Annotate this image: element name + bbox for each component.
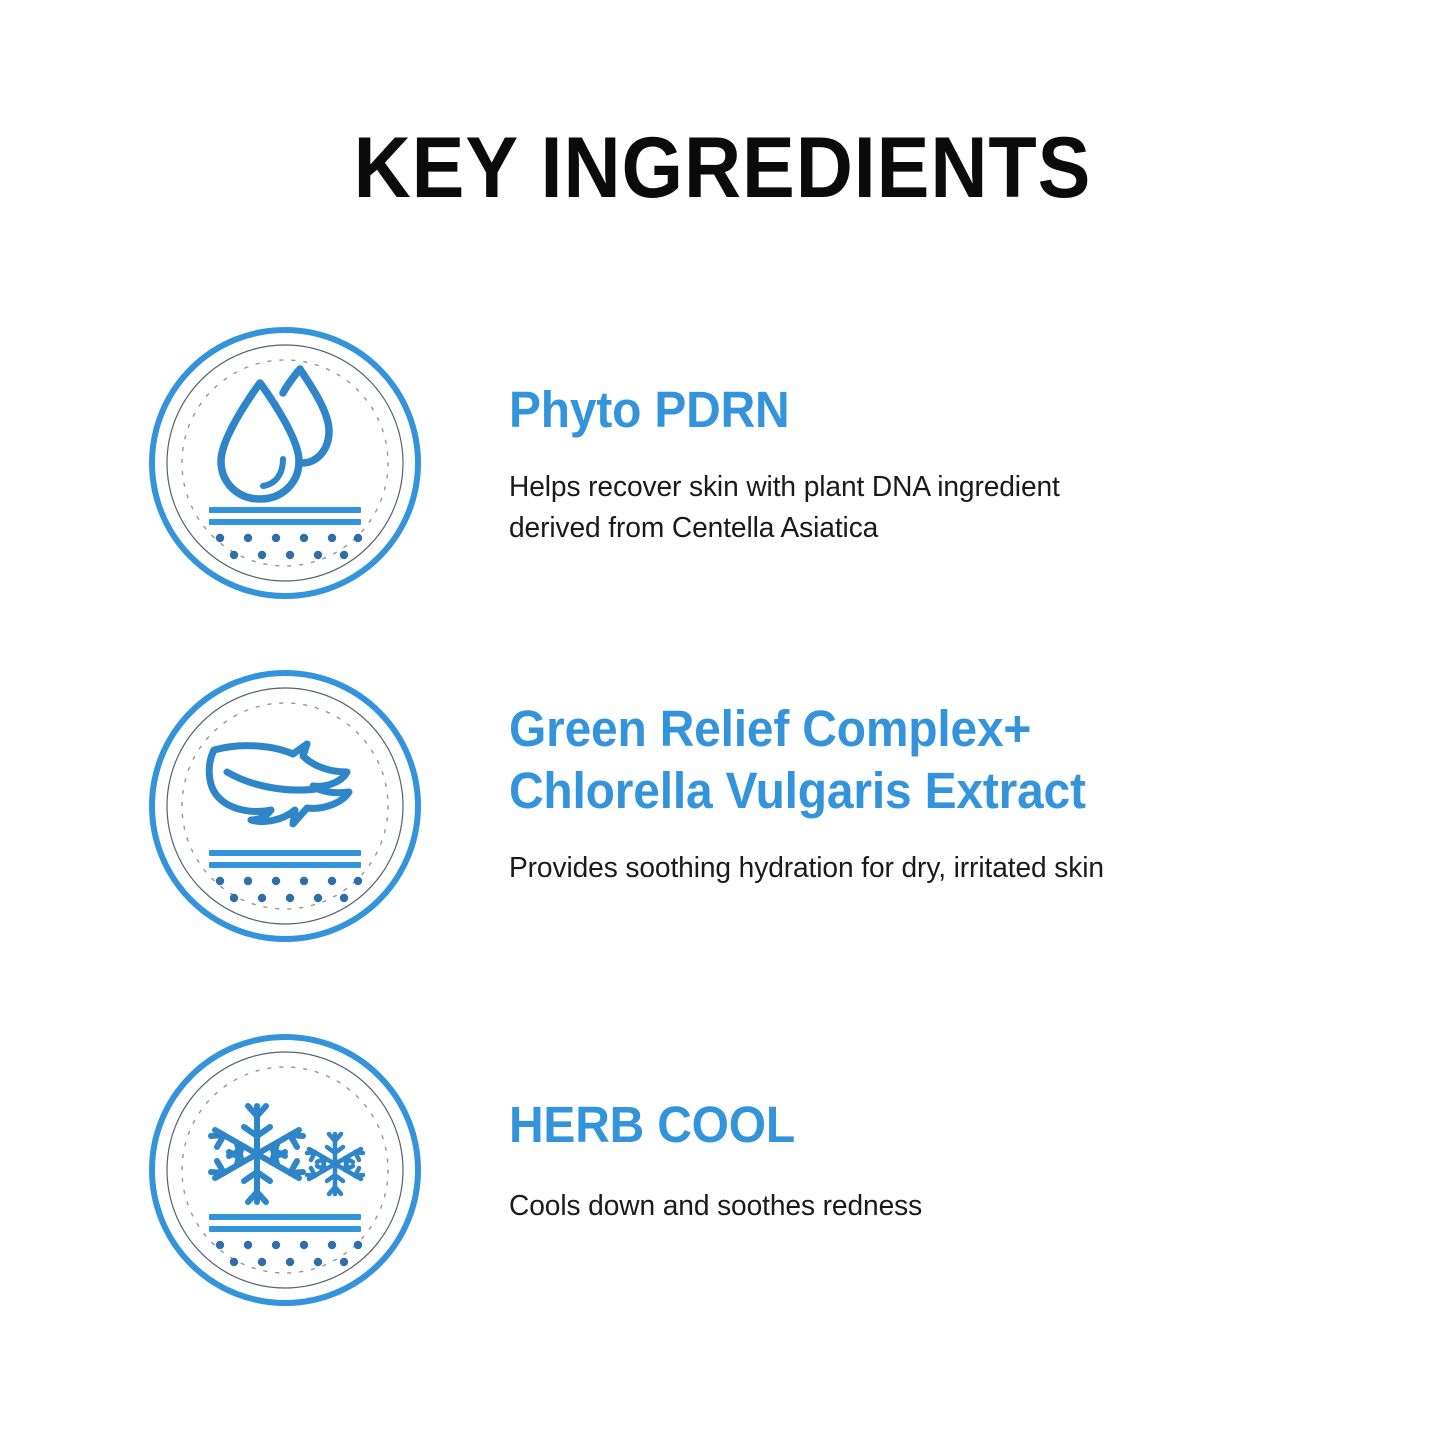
ingredient-title: Phyto PDRN <box>509 379 1261 441</box>
ingredient-title-line: Green Relief Complex+ <box>509 698 1261 760</box>
ingredient-row: HERB COOL Cools down and soothes redness <box>0 1032 1445 1308</box>
ingredient-description-line: Cools down and soothes redness <box>509 1186 1285 1227</box>
ingredient-title-line: Chlorella Vulgaris Extract <box>509 760 1261 822</box>
ingredient-list: Phyto PDRN Helps recover skin with plant… <box>0 0 1445 1445</box>
ingredient-title-line: HERB COOL <box>509 1094 1261 1156</box>
ingredient-title: Green Relief Complex+ Chlorella Vulgaris… <box>509 698 1261 822</box>
ingredient-text: HERB COOL Cools down and soothes redness <box>509 1094 1309 1227</box>
ingredient-row: Green Relief Complex+ Chlorella Vulgaris… <box>0 668 1445 944</box>
ingredient-title-line: Phyto PDRN <box>509 379 1261 441</box>
ingredient-text: Green Relief Complex+ Chlorella Vulgaris… <box>509 698 1309 889</box>
ingredient-description-line: Provides soothing hydration for dry, irr… <box>509 848 1285 889</box>
ingredient-description: Cools down and soothes redness <box>509 1186 1285 1227</box>
ingredient-description-line: derived from Centella Asiatica <box>509 508 1285 549</box>
leaf-skin-layer-icon <box>147 668 423 944</box>
ingredient-title: HERB COOL <box>509 1094 1261 1156</box>
water-droplet-skin-layer-icon <box>147 325 423 601</box>
key-ingredients-infographic: KEY INGREDIENTS <box>0 0 1445 1445</box>
snowflake-skin-layer-icon <box>147 1032 423 1308</box>
ingredient-text: Phyto PDRN Helps recover skin with plant… <box>509 379 1309 549</box>
ingredient-description: Provides soothing hydration for dry, irr… <box>509 848 1285 889</box>
ingredient-row: Phyto PDRN Helps recover skin with plant… <box>0 325 1445 601</box>
ingredient-description: Helps recover skin with plant DNA ingred… <box>509 467 1285 549</box>
ingredient-description-line: Helps recover skin with plant DNA ingred… <box>509 467 1285 508</box>
